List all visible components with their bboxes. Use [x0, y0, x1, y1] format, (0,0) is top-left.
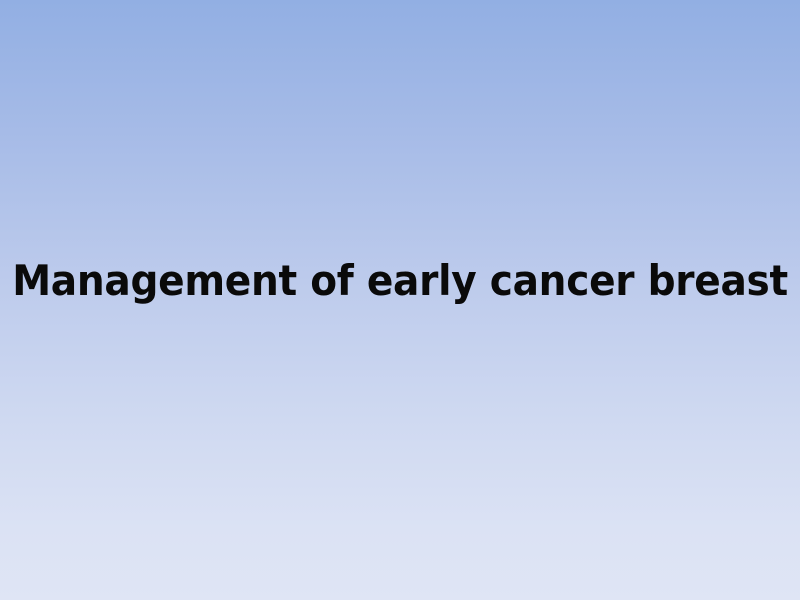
- title-placeholder[interactable]: Management of early cancer breast: [0, 246, 800, 316]
- slide-title: Management of early cancer breast: [12, 257, 788, 304]
- presentation-slide: Management of early cancer breast: [0, 0, 800, 600]
